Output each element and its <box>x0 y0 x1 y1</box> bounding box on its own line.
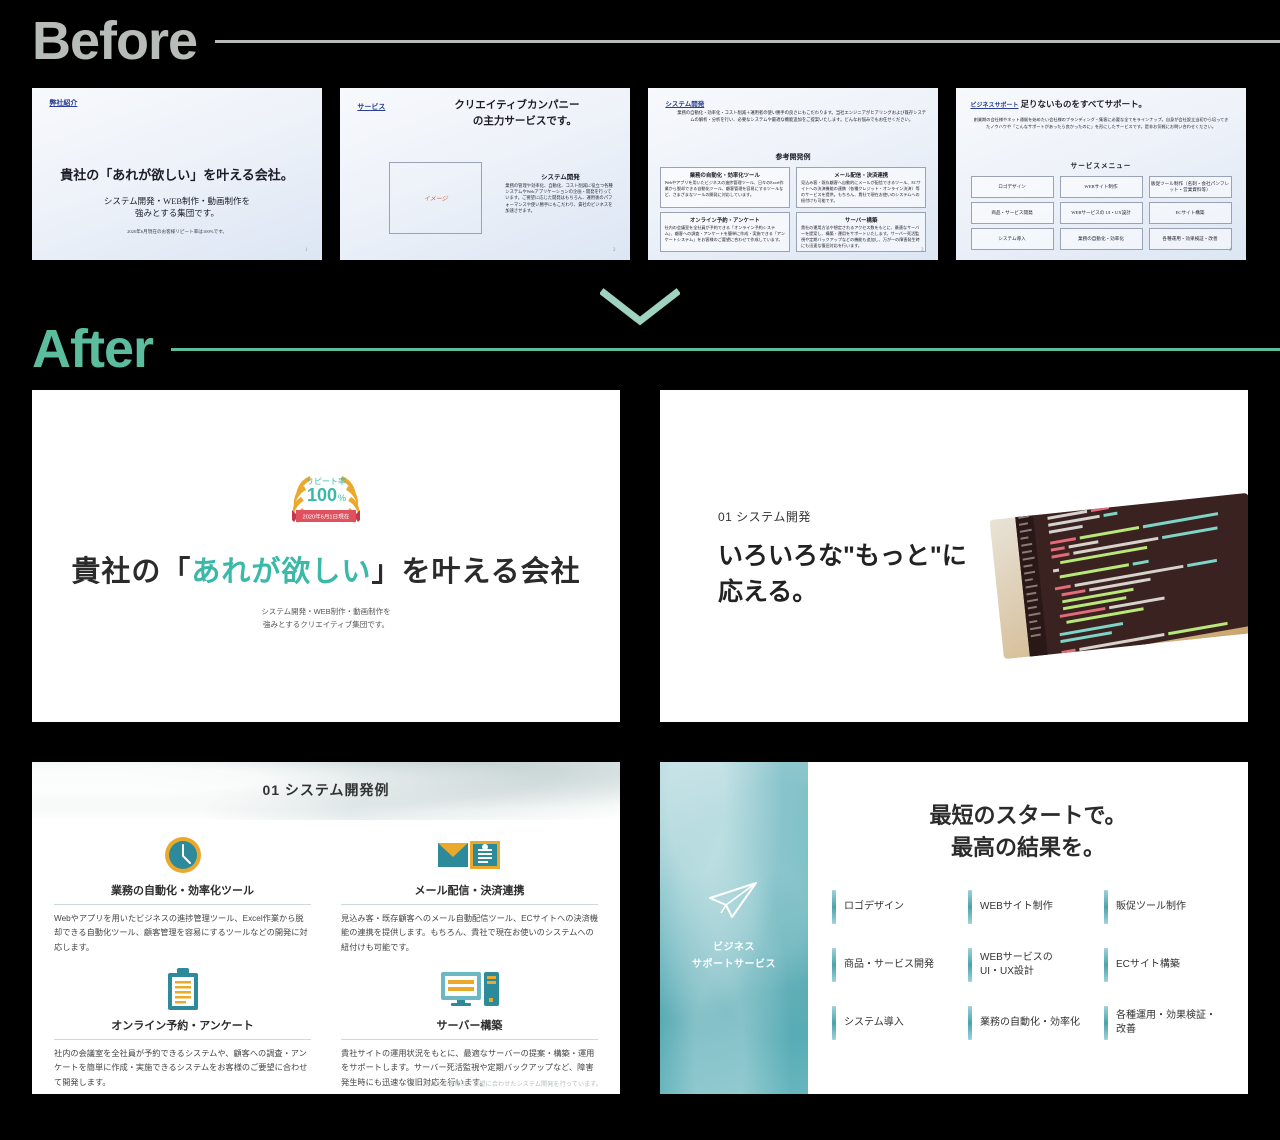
panel-label-line-1: ビジネス <box>713 942 755 953</box>
accent-bar <box>968 890 972 924</box>
repeat-rate-badge: リピート率 100 % 2020年6月1日現在 <box>284 468 368 535</box>
divider <box>341 904 598 905</box>
slide-tag: 弊社紹介 <box>49 98 77 108</box>
panel-label: ビジネス サポートサービス <box>660 939 808 973</box>
side-title: システム開発 <box>505 171 615 181</box>
service-item[interactable]: 業務の自動化・効率化 <box>968 1006 1088 1040</box>
service-label: 業務の自動化・効率化 <box>980 1016 1080 1031</box>
cell-title: オンライン予約・アンケート <box>665 216 785 224</box>
after-slide-4[interactable]: ビジネス サポートサービス 最短のスタートで。 最高の結果を。 ロゴデザイン W… <box>660 762 1248 1094</box>
accent-bar <box>1104 890 1108 924</box>
before-section-heading: Before <box>32 14 1280 68</box>
example-cell: メール配信・決済連携 見込み客・既存顧客へ自動的にメールが配信できるツール、EC… <box>796 167 926 208</box>
title-highlight: あれが欲しい <box>191 556 371 588</box>
title-line-2: 最高の結果を。 <box>951 835 1105 860</box>
cell-body: 社内の会議室を全社員が予約できる「オンライン予約システム」、顧客への調査・アンケ… <box>665 225 785 243</box>
cell-body: 見込み客・既存顧客へ自動的にメールが配信できるツール、ECサイトへの決済機能の連… <box>801 180 921 204</box>
after-rule <box>171 348 1280 351</box>
service-label: 販促ツール制作 <box>1116 900 1186 915</box>
before-slide-1[interactable]: 弊社紹介 貴社の「あれが欲しい」を叶える会社。 システム開発・WEB制作・動画制… <box>32 88 322 260</box>
slide-tag: ビジネスサポート <box>971 100 1019 109</box>
service-item[interactable]: システム導入 <box>832 1006 952 1040</box>
cell-title: サーバー構築 <box>801 216 921 224</box>
service-label: ロゴデザイン <box>844 900 904 915</box>
panel-content: ビジネス サポートサービス <box>660 880 808 973</box>
cell-body: 貴社の運用方法や想定されるアクセス数をもとに、最適なサーバーを提案し、構築・運用… <box>801 225 921 249</box>
card-body: 見込み客・既存顧客へのメール自動配信ツール、ECサイトへの決済機能の連携を提供し… <box>341 912 598 955</box>
headline-line-2: 応える。 <box>718 578 817 606</box>
service-item[interactable]: WEBサイト制作 <box>968 890 1088 924</box>
slide-title: 最短のスタートで。 最高の結果を。 <box>808 800 1248 864</box>
slide-title: クリエイティブカンパニー の主力サービスです。 <box>415 98 618 128</box>
service-cell: ロゴデザイン <box>971 176 1054 198</box>
accent-bar <box>832 890 836 924</box>
slide-eyebrow: 01 システム開発 <box>718 508 811 525</box>
accent-bar <box>1104 1006 1108 1040</box>
hero-banner: 01 システム開発例 <box>32 762 620 820</box>
right-panel: 最短のスタートで。 最高の結果を。 ロゴデザイン WEBサイト制作 販促ツール制… <box>808 762 1248 1094</box>
chevron-down-icon <box>600 288 680 326</box>
after-label: After <box>32 322 153 376</box>
feature-card: メール配信・決済連携 見込み客・既存顧客へのメール自動配信ツール、ECサイトへの… <box>337 824 602 955</box>
slide-heading: 01 システム開発例 <box>32 780 620 800</box>
card-title: 業務の自動化・効率化ツール <box>54 882 311 898</box>
image-placeholder-box: イメージ <box>389 162 482 234</box>
card-title: メール配信・決済連携 <box>341 882 598 898</box>
service-item[interactable]: WEBサービスの UI・UX設計 <box>968 948 1088 982</box>
clock-icon <box>54 830 311 880</box>
cell-title: 業務の自動化・効率化ツール <box>665 171 785 179</box>
service-label: システム導入 <box>844 1016 904 1031</box>
slide-tag: システム開発 <box>665 98 704 108</box>
after-section-heading: After <box>32 322 1280 376</box>
feature-cards: 業務の自動化・効率化ツール Webやアプリを用いたビジネスの進捗管理ツール、Ex… <box>50 824 602 1090</box>
service-item[interactable]: ECサイト構築 <box>1104 948 1224 982</box>
slide-headline: いろいろな"もっと"に 応える。 <box>718 538 967 611</box>
title-part-1: 貴社の「 <box>71 556 191 588</box>
feature-card: オンライン予約・アンケート 社内の会議室を全社員が予約できるシステムや、顧客への… <box>50 959 315 1090</box>
slide-lead: 創業期の会社様やネット通販を始めたい会社様のブランディング・集客に必要な全てをラ… <box>973 117 1228 130</box>
cell-title: メール配信・決済連携 <box>801 171 921 179</box>
service-grid: ロゴデザイン WEBサイト制作 販促ツール制作（名刺・会社パンフレット・営業資料… <box>971 176 1232 250</box>
service-list: ロゴデザイン WEBサイト制作 販促ツール制作 商品・サービス開発 WEBサービ… <box>832 890 1224 1040</box>
image-placeholder-label: イメージ <box>424 194 448 203</box>
mail-icon <box>341 830 598 880</box>
slide-mid-heading: 参考開発例 <box>648 152 938 162</box>
title-part-2: 」を叶える会社 <box>371 556 580 588</box>
service-cell: ECサイト構築 <box>1149 202 1232 224</box>
service-cell: システム導入 <box>971 228 1054 250</box>
before-slide-4[interactable]: ビジネスサポート 足りないものをすべてサポート。 創業期の会社様やネット通販を始… <box>956 88 1246 260</box>
accent-bar <box>832 948 836 982</box>
divider <box>54 1039 311 1040</box>
page-number: 3 <box>921 248 924 253</box>
slide-lead: 業務の自動化・効率化・コスト削減＋運用者の使い勝手の良さにもこだわります。当社エ… <box>677 109 926 123</box>
service-cell: WEBサービスの UI・UX設計 <box>1060 202 1143 224</box>
accent-bar <box>968 948 972 982</box>
service-label: WEBサイト制作 <box>980 900 1053 915</box>
left-panel: ビジネス サポートサービス <box>660 762 808 1094</box>
service-cell: 商品・サービス開発 <box>971 202 1054 224</box>
side-body: 業務の管理や効率化、自動化、コスト削減に役立つ各種システムやWebアプリケーショ… <box>505 183 615 215</box>
subtitle-line-1: システム開発・WEB制作・動画制作を <box>261 607 390 616</box>
server-icon <box>341 965 598 1015</box>
example-cell: オンライン予約・アンケート 社内の会議室を全社員が予約できる「オンライン予約シス… <box>660 212 790 253</box>
clipboard-icon <box>54 965 311 1015</box>
service-label: 各種運用・効果検証・改善 <box>1116 1009 1224 1038</box>
accent-bar <box>968 1006 972 1040</box>
slide-tag: サービス <box>357 102 385 112</box>
comparison-page: Before 弊社紹介 貴社の「あれが欲しい」を叶える会社。 システム開発・WE… <box>0 0 1280 1140</box>
feature-card: 業務の自動化・効率化ツール Webやアプリを用いたビジネスの進捗管理ツール、Ex… <box>50 824 315 955</box>
service-label: ECサイト構築 <box>1116 958 1180 973</box>
badge-value: 100 <box>307 485 337 505</box>
paper-plane-icon <box>706 880 762 920</box>
subtitle-line-2: 強みとするクリエイティブ集団です。 <box>263 620 389 629</box>
slide-title: 足りないものをすべてサポート。 <box>1021 98 1147 110</box>
accent-bar <box>1104 948 1108 982</box>
card-body: Webやアプリを用いたビジネスの進捗管理ツール、Excel作業から脱却できる自動… <box>54 912 311 955</box>
slide-subtitle: システム開発・WEB制作・動画制作を 強みとするクリエイティブ集団です。 <box>32 606 620 632</box>
page-number: 1 <box>305 248 308 253</box>
page-number: 2 <box>613 248 616 253</box>
example-cell: サーバー構築 貴社の運用方法や想定されるアクセス数をもとに、最適なサーバーを提案… <box>796 212 926 253</box>
after-slide-1[interactable]: リピート率 100 % 2020年6月1日現在 貴社の「あれが欲しい」を叶える会… <box>32 390 620 722</box>
before-slide-3[interactable]: システム開発 業務の自動化・効率化・コスト削減＋運用者の使い勝手の良さにもこだわ… <box>648 88 938 260</box>
after-slide-2[interactable]: 01 システム開発 いろいろな"もっと"に 応える。 <box>660 390 1248 722</box>
slide-subtitle: システム開発・WEB制作・動画制作を 強みとする集団です。 <box>32 195 322 221</box>
example-cell: 業務の自動化・効率化ツール Webやアプリを用いたビジネスの進捗管理ツール、日々… <box>660 167 790 208</box>
slide-note: 2020年6月現在のお客様リピート率は100%です。 <box>32 229 322 235</box>
service-label: 商品・サービス開発 <box>844 958 934 973</box>
service-cell: 販促ツール制作（名刺・会社パンフレット・営業資料等） <box>1149 176 1232 198</box>
slide-footer: 他にもお客様のご要望に合わせたシステム開発を行っています。 <box>424 1079 602 1088</box>
card-title: サーバー構築 <box>341 1017 598 1033</box>
slide-header: ビジネスサポート 足りないものをすべてサポート。 <box>971 98 1232 110</box>
slide-headline: 貴社の「あれが欲しい」を叶える会社。 <box>32 165 322 184</box>
menu-heading: サービスメニュー <box>956 160 1246 170</box>
feature-card: サーバー構築 貴社サイトの運用状況をもとに、最適なサーバーの提案・構築・運用をサ… <box>337 959 602 1090</box>
page-number: 4 <box>1229 248 1232 253</box>
subtitle-line-2: 強みとする集団です。 <box>135 208 219 218</box>
divider <box>54 904 311 905</box>
badge-unit: % <box>338 493 346 503</box>
before-label: Before <box>32 14 197 68</box>
service-item[interactable]: ロゴデザイン <box>832 890 952 924</box>
service-item[interactable]: 商品・サービス開発 <box>832 948 952 982</box>
side-block: システム開発 業務の管理や効率化、自動化、コスト削減に役立つ各種システムやWeb… <box>505 171 615 215</box>
badge-ribbon-label: 2020年6月1日現在 <box>303 513 350 521</box>
service-cell: 業務の自動化・効率化 <box>1060 228 1143 250</box>
title-line-1: クリエイティブカンパニー <box>454 100 579 111</box>
service-item[interactable]: 各種運用・効果検証・改善 <box>1104 1006 1224 1040</box>
cell-body: Webやアプリを用いたビジネスの進捗管理ツール、日々のExcel作業から脱却でき… <box>665 180 785 198</box>
after-slide-3[interactable]: 01 システム開発例 業務の自動化・効率化ツール Webやアプリを用いたビジネス… <box>32 762 620 1094</box>
subtitle-line-1: システム開発・WEB制作・動画制作を <box>104 196 250 206</box>
panel-label-line-2: サポートサービス <box>692 959 776 970</box>
code-editor-photo <box>989 493 1248 659</box>
card-body: 社内の会議室を全社員が予約できるシステムや、顧客への調査・アンケートを簡単に作成… <box>54 1047 311 1090</box>
before-rule <box>215 40 1280 43</box>
example-grid: 業務の自動化・効率化ツール Webやアプリを用いたビジネスの進捗管理ツール、日々… <box>660 167 927 250</box>
service-cell: 各種運用・効果検証・改善 <box>1149 228 1232 250</box>
accent-bar <box>832 1006 836 1040</box>
headline-line-1: いろいろな"もっと"に <box>718 542 967 570</box>
divider <box>341 1039 598 1040</box>
before-slide-2[interactable]: サービス クリエイティブカンパニー の主力サービスです。 イメージ システム開発… <box>340 88 630 260</box>
service-cell: WEBサイト制作 <box>1060 176 1143 198</box>
title-line-1: 最短のスタートで。 <box>929 803 1126 828</box>
service-item[interactable]: 販促ツール制作 <box>1104 890 1224 924</box>
slide-title: 貴社の「あれが欲しい」を叶える会社 <box>32 548 620 590</box>
title-line-2: の主力サービスです。 <box>415 114 618 129</box>
laurel-badge-icon: リピート率 100 % 2020年6月1日現在 <box>284 468 368 530</box>
service-label: WEBサービスの UI・UX設計 <box>980 951 1053 980</box>
card-title: オンライン予約・アンケート <box>54 1017 311 1033</box>
